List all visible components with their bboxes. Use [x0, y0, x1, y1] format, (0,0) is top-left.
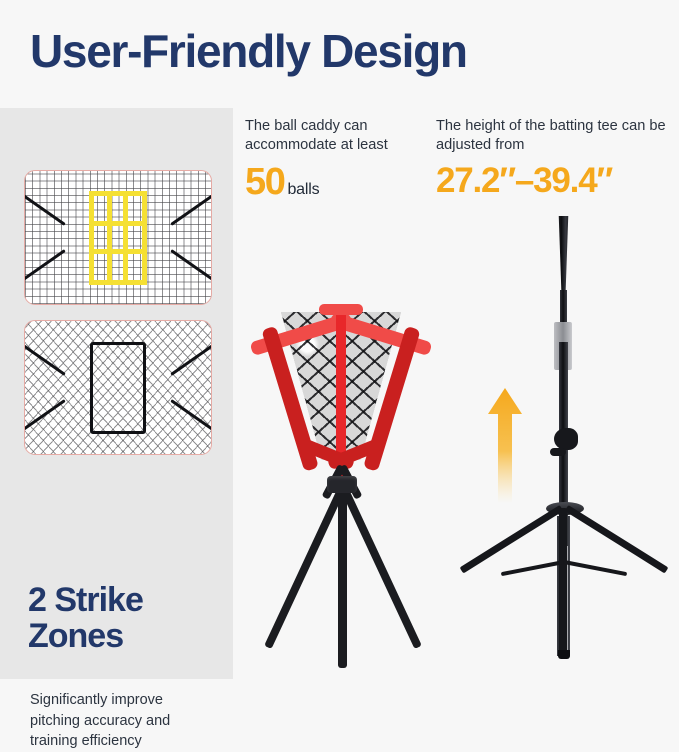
- tee-tripod-leg: [559, 508, 567, 658]
- stat-value: 50: [245, 161, 284, 203]
- left-feature-panel: 2 Strike Zones Significantly improve pit…: [0, 108, 233, 679]
- page-title: User-Friendly Design: [30, 28, 467, 74]
- yellow-strike-zone-grid: [89, 191, 147, 285]
- tee-leg-brace: [564, 560, 628, 576]
- stat-batting-tee-height: The height of the batting tee can be adj…: [436, 117, 672, 198]
- tee-leg-brace: [501, 560, 565, 576]
- height-adjust-up-arrow-icon: [488, 388, 522, 503]
- stat-ball-caddy-capacity: The ball caddy can accommodate at least …: [245, 117, 435, 201]
- caddy-tripod-leg: [339, 484, 421, 649]
- caddy-tripod-collar: [327, 476, 357, 493]
- right-content-area: The ball caddy can accommodate at least …: [233, 108, 679, 679]
- stat-value: 27.2″–39.4″: [436, 161, 612, 200]
- tee-height-lock-knob[interactable]: [554, 428, 578, 450]
- strike-zones-description: Significantly improve pitching accuracy …: [30, 690, 216, 752]
- stat-value-row: 27.2″–39.4″: [436, 163, 672, 198]
- strike-zone-grid-net-card: [24, 170, 212, 305]
- tee-flexible-top-cone: [555, 216, 572, 294]
- stat-lead-text: The ball caddy can accommodate at least: [245, 117, 435, 154]
- header-band: User-Friendly Design: [0, 0, 679, 108]
- batting-tee-product-image: [458, 216, 673, 668]
- tee-center-foot: [558, 650, 570, 659]
- grid-line-vertical: [123, 196, 128, 280]
- tee-height-lock-lever[interactable]: [550, 448, 566, 456]
- stat-value-row: 50balls: [245, 163, 435, 201]
- ball-caddy-product-image: [241, 290, 441, 668]
- caddy-tripod-leg: [338, 486, 347, 668]
- strike-zone-box-net-card: [24, 320, 212, 455]
- stat-lead-text: The height of the batting tee can be adj…: [436, 117, 672, 154]
- grid-line-horizontal: [94, 249, 142, 254]
- grid-line-vertical: [107, 196, 112, 280]
- strike-zones-heading: 2 Strike Zones: [28, 582, 228, 654]
- black-strike-zone-box: [90, 342, 146, 434]
- caddy-frame-apex: [319, 304, 363, 315]
- stat-unit: balls: [287, 181, 319, 198]
- caddy-tripod-leg: [264, 484, 346, 649]
- grid-line-horizontal: [94, 221, 142, 226]
